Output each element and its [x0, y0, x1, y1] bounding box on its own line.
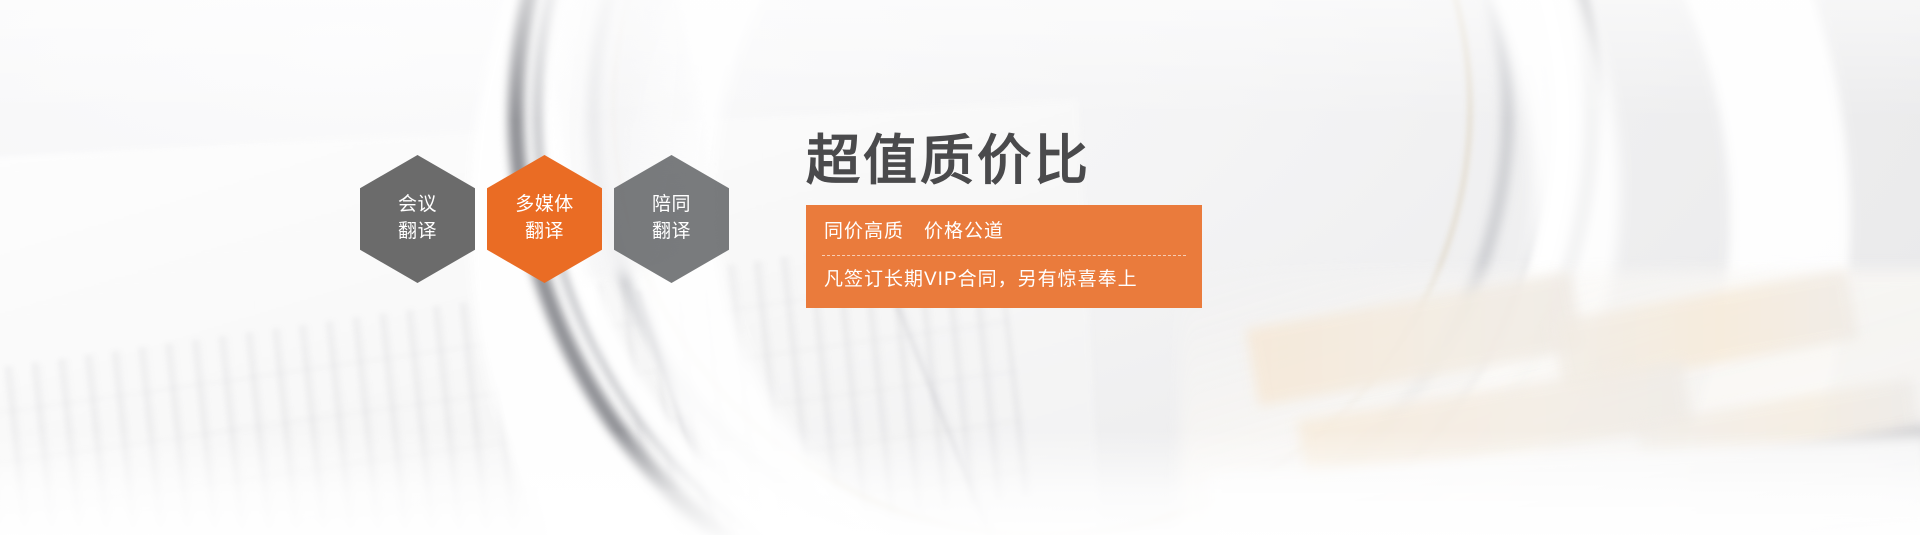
background-top-fade	[0, 0, 1920, 120]
hexagon-escort-translation-line2: 翻译	[652, 219, 691, 246]
hexagon-multimedia-translation[interactable]: 多媒体 翻译	[487, 155, 602, 283]
hexagon-escort-translation-line1: 陪同	[652, 192, 691, 219]
hexagon-conference-translation-line1: 会议	[398, 192, 437, 219]
hexagon-escort-translation[interactable]: 陪同 翻译	[614, 155, 729, 283]
banner-headline: 超值质价比	[806, 132, 1091, 191]
background-page-fold-line-2	[560, 280, 1320, 535]
hexagon-multimedia-translation-line1: 多媒体	[515, 192, 574, 219]
promo-dashed-divider	[822, 255, 1186, 256]
hexagon-multimedia-translation-line2: 翻译	[525, 219, 564, 246]
promo-offer-box: 同价高质 价格公道 凡签订长期VIP合同，另有惊喜奉上	[806, 205, 1202, 308]
hexagon-conference-translation[interactable]: 会议 翻译	[360, 155, 475, 283]
hexagon-conference-translation-line2: 翻译	[398, 219, 437, 246]
promo-tagline: 同价高质 价格公道	[806, 217, 1202, 255]
service-hexagon-group: 会议 翻译 多媒体 翻译 陪同 翻译	[360, 155, 730, 285]
promo-banner-hero: 会议 翻译 多媒体 翻译 陪同 翻译 超值质价比 同价高质 价格公道 凡签订长期…	[0, 0, 1920, 535]
promo-vip-offer: 凡签订长期VIP合同，另有惊喜奉上	[806, 265, 1202, 294]
background-page-fold-line-1	[300, 290, 1060, 535]
